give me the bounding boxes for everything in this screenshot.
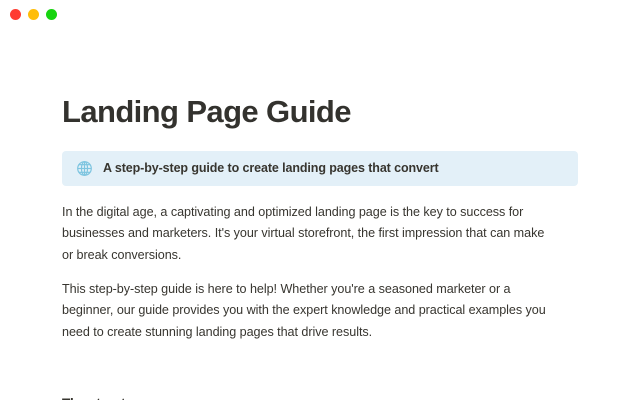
section-label-heading[interactable]: The structure [62, 395, 578, 400]
body-paragraph[interactable]: This step-by-step guide is here to help!… [62, 279, 554, 344]
body-paragraph[interactable]: In the digital age, a captivating and op… [62, 202, 554, 267]
globe-icon [76, 160, 93, 177]
callout-text: A step-by-step guide to create landing p… [103, 159, 439, 177]
maximize-button[interactable] [46, 9, 57, 20]
minimize-button[interactable] [28, 9, 39, 20]
window-titlebar [0, 0, 640, 28]
page-title[interactable]: Landing Page Guide [62, 94, 578, 130]
close-button[interactable] [10, 9, 21, 20]
app-window: Landing Page Guide A step-by-step guide … [0, 0, 640, 400]
traffic-light-group [10, 9, 57, 20]
callout-block[interactable]: A step-by-step guide to create landing p… [62, 151, 578, 186]
document-page: Landing Page Guide A step-by-step guide … [0, 94, 640, 400]
